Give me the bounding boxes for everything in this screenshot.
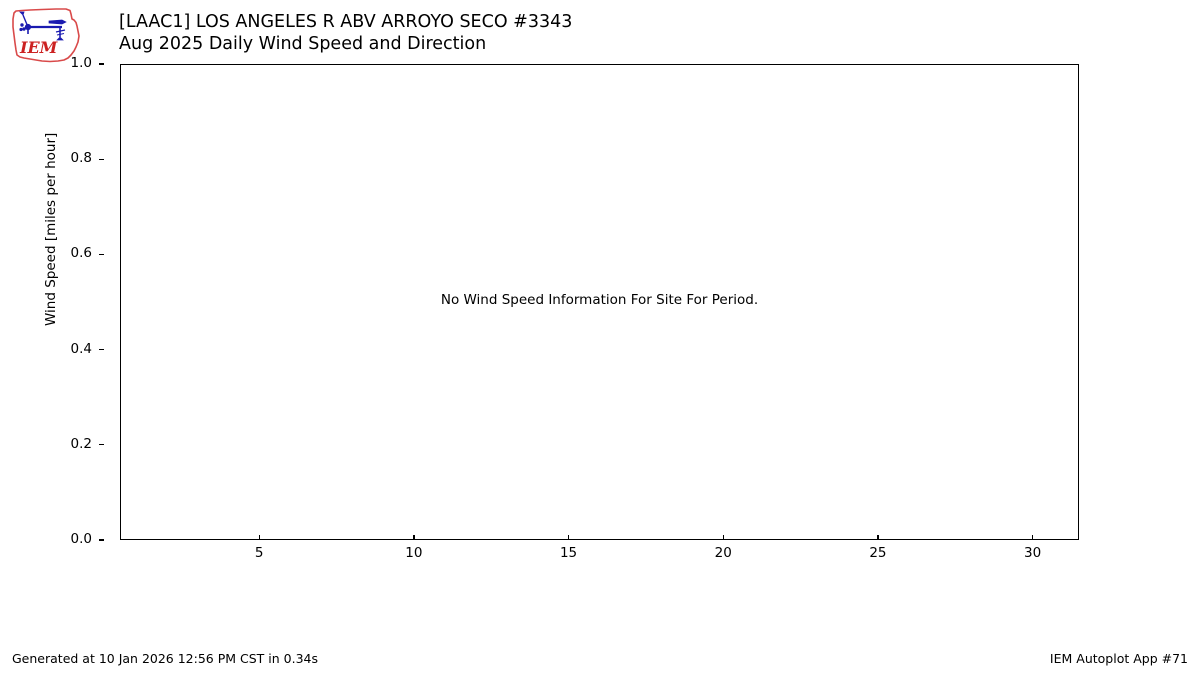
y-axis-tick-mark — [99, 254, 104, 255]
y-axis-tick-label: 0.0 — [71, 531, 92, 547]
y-axis-tick-label: 0.4 — [71, 341, 92, 357]
svg-text:IEM: IEM — [19, 38, 59, 57]
x-axis-tick-mark — [259, 535, 260, 540]
y-axis-tick-mark — [99, 159, 104, 160]
y-axis-tick-mark — [99, 539, 104, 540]
x-axis-tick-label: 25 — [838, 545, 918, 561]
y-axis-tick-mark — [99, 444, 104, 445]
y-axis-tick-label: 0.6 — [71, 245, 92, 261]
x-axis-tick-label: 15 — [529, 545, 609, 561]
x-axis-tick-mark — [568, 535, 569, 540]
y-axis-tick-label: 0.2 — [71, 436, 92, 452]
y-axis-tick-mark — [99, 349, 104, 350]
y-axis-tick-mark — [99, 63, 104, 64]
x-axis-tick-mark — [413, 535, 414, 540]
x-axis-tick-label: 30 — [993, 545, 1073, 561]
x-axis-tick-label: 10 — [374, 545, 454, 561]
chart-title-line-1: [LAAC1] LOS ANGELES R ABV ARROYO SECO #3… — [119, 11, 1079, 33]
no-data-message: No Wind Speed Information For Site For P… — [121, 292, 1078, 308]
y-axis-tick-label: 1.0 — [71, 55, 92, 71]
y-axis-label: Wind Speed [miles per hour] — [43, 166, 59, 326]
x-axis-tick-mark — [877, 535, 878, 540]
y-axis-tick-label: 0.8 — [71, 150, 92, 166]
footer-generated-text: Generated at 10 Jan 2026 12:56 PM CST in… — [12, 651, 318, 666]
footer-app-label: IEM Autoplot App #71 — [1050, 651, 1188, 666]
plot-area: No Wind Speed Information For Site For P… — [120, 64, 1079, 540]
x-axis-tick-mark — [1032, 535, 1033, 540]
x-axis-tick-label: 5 — [219, 545, 299, 561]
chart-title-line-2: Aug 2025 Daily Wind Speed and Direction — [119, 33, 1079, 55]
x-axis-tick-mark — [723, 535, 724, 540]
x-axis-tick-label: 20 — [683, 545, 763, 561]
chart-title-block: [LAAC1] LOS ANGELES R ABV ARROYO SECO #3… — [119, 11, 1079, 55]
